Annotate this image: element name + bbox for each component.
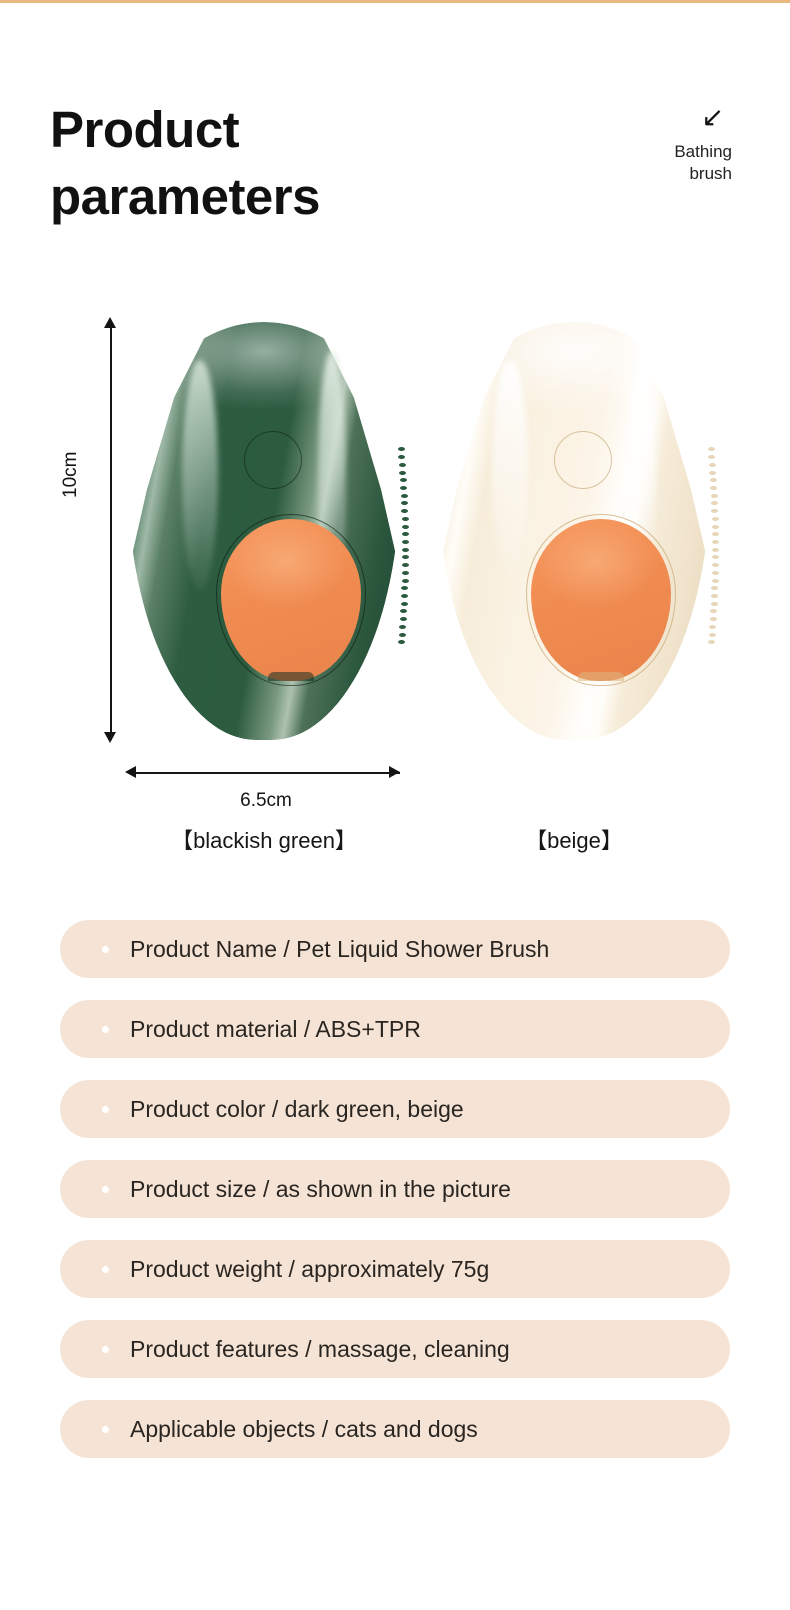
bristle-nub: [400, 478, 407, 482]
bristle-nub: [402, 563, 409, 567]
arrow-down-left-icon: ↙: [582, 104, 732, 131]
bullet-icon: [102, 1186, 109, 1193]
product-image-blackish-green: [128, 322, 400, 740]
width-dimension-line: [132, 772, 400, 774]
color-caption-blackish-green: 【blackish green】: [128, 823, 400, 855]
bristle-nub: [712, 540, 719, 544]
bristle-nub: [712, 571, 719, 575]
bristle-nub: [708, 447, 715, 451]
spec-row: Product features / massage, cleaning: [60, 1320, 730, 1378]
bristle-nub: [712, 532, 719, 536]
bullet-icon: [102, 946, 109, 953]
color-caption-beige: 【beige】: [438, 823, 710, 855]
page-title: Product parameters: [50, 96, 530, 231]
spec-label: Product size / as shown in the picture: [130, 1178, 730, 1201]
spec-label: Product color / dark green, beige: [130, 1098, 730, 1121]
bristle-nub: [402, 532, 409, 536]
bathing-brush-callout: ↙ Bathing brush: [582, 104, 732, 185]
bristle-nub: [712, 563, 719, 567]
silicone-pad-notch: [578, 672, 624, 681]
bullet-icon: [102, 1106, 109, 1113]
spec-row: Product material / ABS+TPR: [60, 1000, 730, 1058]
bristle-nub: [708, 640, 715, 644]
bullet-icon: [102, 1346, 109, 1353]
height-dimension-label: 10cm: [60, 452, 82, 498]
bristle-nub: [712, 548, 719, 552]
bristle-nub: [399, 625, 406, 629]
spec-label: Product weight / approximately 75g: [130, 1258, 730, 1281]
spec-row: Applicable objects / cats and dogs: [60, 1400, 730, 1458]
width-arrowhead-right-icon: [389, 766, 400, 778]
height-arrowhead-top-icon: [104, 317, 116, 328]
bristle-nub: [402, 548, 409, 552]
bristle-nub: [711, 494, 718, 498]
pump-button: [554, 431, 612, 489]
width-arrowhead-left-icon: [125, 766, 136, 778]
silicone-pad: [216, 514, 366, 686]
bristle-nub: [710, 478, 717, 482]
callout-label: Bathing brush: [582, 141, 732, 185]
bristle-nub: [398, 447, 405, 451]
bristle-nub: [400, 486, 407, 490]
bristle-nub: [398, 640, 405, 644]
height-dimension-line: [110, 325, 112, 740]
silicone-pad-notch: [268, 672, 314, 681]
spec-row: Product size / as shown in the picture: [60, 1160, 730, 1218]
bristle-nub: [399, 633, 406, 637]
bristle-texture: [391, 447, 405, 648]
spec-label: Product features / massage, cleaning: [130, 1338, 730, 1361]
bullet-icon: [102, 1026, 109, 1033]
pump-button: [244, 431, 302, 489]
bristle-nub: [402, 540, 409, 544]
bristle-nub: [400, 617, 407, 621]
silicone-pad-surface: [531, 519, 671, 681]
bristle-nub: [401, 501, 408, 505]
bristle-nub: [401, 602, 408, 606]
page-header: Product parameters ↙ Bathing brush: [0, 96, 790, 246]
bristle-nub: [710, 617, 717, 621]
bristle-nub: [711, 586, 718, 590]
bristle-nub: [398, 455, 405, 459]
spec-row: Product Name / Pet Liquid Shower Brush: [60, 920, 730, 978]
spec-label: Product Name / Pet Liquid Shower Brush: [130, 938, 730, 961]
bristle-nub: [711, 602, 718, 606]
top-accent-rule: [0, 0, 790, 3]
bristle-nub: [710, 486, 717, 490]
bristle-nub: [708, 455, 715, 459]
height-arrowhead-bottom-icon: [104, 732, 116, 743]
bullet-icon: [102, 1426, 109, 1433]
bristle-nub: [711, 509, 718, 513]
bristle-texture: [701, 447, 715, 648]
bristle-nub: [401, 594, 408, 598]
spec-row: Product color / dark green, beige: [60, 1080, 730, 1138]
spec-label: Applicable objects / cats and dogs: [130, 1418, 730, 1441]
bristle-nub: [400, 609, 407, 613]
bristle-nub: [711, 501, 718, 505]
silicone-pad-surface: [221, 519, 361, 681]
bristle-nub: [399, 471, 406, 475]
bristle-nub: [399, 463, 406, 467]
spec-row: Product weight / approximately 75g: [60, 1240, 730, 1298]
bristle-nub: [709, 463, 716, 467]
bristle-nub: [712, 517, 719, 521]
bristle-nub: [712, 555, 719, 559]
bristle-nub: [402, 525, 409, 529]
spec-list: Product Name / Pet Liquid Shower BrushPr…: [0, 920, 790, 1480]
bristle-nub: [709, 633, 716, 637]
bristle-nub: [402, 555, 409, 559]
product-image-beige: [438, 322, 710, 740]
spec-label: Product material / ABS+TPR: [130, 1018, 730, 1041]
bristle-nub: [712, 525, 719, 529]
bullet-icon: [102, 1266, 109, 1273]
width-dimension-label: 6.5cm: [132, 790, 400, 812]
bristle-nub: [402, 517, 409, 521]
bristle-nub: [709, 625, 716, 629]
bristle-nub: [401, 586, 408, 590]
bristle-nub: [402, 579, 409, 583]
bristle-nub: [401, 494, 408, 498]
bristle-nub: [710, 609, 717, 613]
silicone-pad: [526, 514, 676, 686]
bristle-nub: [401, 509, 408, 513]
bristle-nub: [709, 471, 716, 475]
bristle-nub: [712, 579, 719, 583]
bristle-nub: [711, 594, 718, 598]
bristle-nub: [402, 571, 409, 575]
